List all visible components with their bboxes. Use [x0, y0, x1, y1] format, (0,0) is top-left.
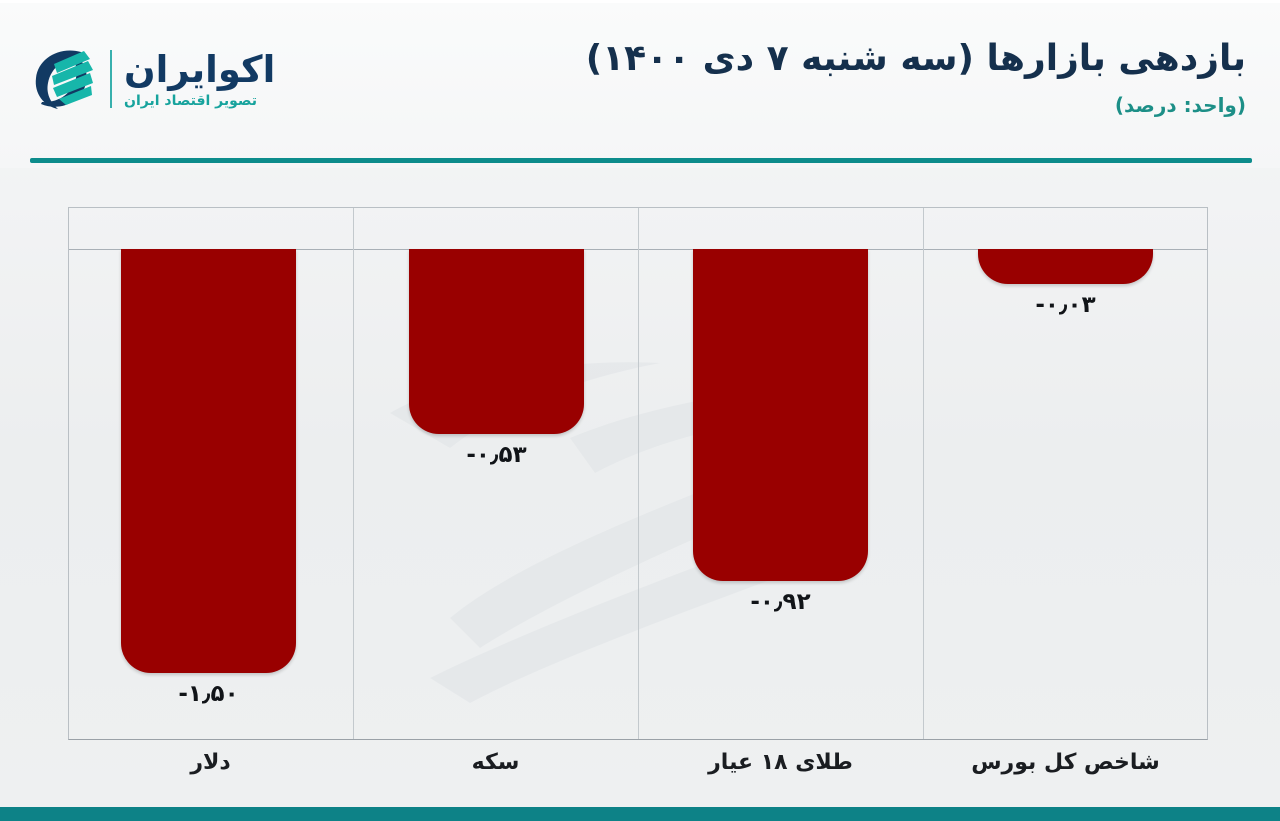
footer-accent-bar	[0, 807, 1280, 821]
bar-value-label: -۰٫۵۳	[409, 442, 584, 468]
top-hairline	[0, 0, 1280, 3]
category-axis: دلار سکه طلای ۱۸ عیار شاخص کل بورس	[68, 750, 1208, 802]
logo-name: اکوایران	[124, 51, 275, 88]
bar-dollar[interactable]	[121, 249, 296, 673]
brand-logo: اکوایران تصویر اقتصاد ایران	[24, 38, 314, 120]
infographic-page: اکوایران تصویر اقتصاد ایران بازدهی بازار…	[0, 0, 1280, 821]
category-label-stock-index: شاخص کل بورس	[923, 750, 1208, 775]
logo-tagline: تصویر اقتصاد ایران	[124, 94, 257, 108]
category-label-coin: سکه	[353, 750, 638, 775]
chart-area: -۱٫۵۰ -۰٫۵۳ -۰٫۹۲ -۰٫۰۳ دلار سکه طلای ۱۸…	[0, 168, 1280, 793]
category-label-dollar: دلار	[68, 750, 353, 775]
bar-gold18[interactable]	[693, 249, 868, 581]
header-divider	[30, 158, 1252, 163]
ecoiran-swoosh-logo-icon	[24, 42, 98, 116]
logo-wordmark: اکوایران تصویر اقتصاد ایران	[124, 51, 275, 108]
category-separator	[923, 208, 924, 739]
page-subtitle: (واحد: درصد)	[456, 93, 1246, 117]
category-label-gold18: طلای ۱۸ عیار	[638, 750, 923, 775]
title-area: بازدهی بازارها (سه شنبه ۷ دی ۱۴۰۰) (واحد…	[456, 36, 1246, 117]
bar-stock-index[interactable]	[978, 249, 1153, 284]
bar-value-label: -۰٫۹۲	[693, 589, 868, 615]
bar-coin[interactable]	[409, 249, 584, 434]
bar-value-label: -۱٫۵۰	[121, 681, 296, 707]
plot-area: -۱٫۵۰ -۰٫۵۳ -۰٫۹۲ -۰٫۰۳	[68, 207, 1208, 740]
page-title: بازدهی بازارها (سه شنبه ۷ دی ۱۴۰۰)	[456, 36, 1246, 81]
bar-value-label: -۰٫۰۳	[978, 292, 1153, 318]
logo-divider	[110, 50, 112, 108]
category-separator	[353, 208, 354, 739]
category-separator	[638, 208, 639, 739]
